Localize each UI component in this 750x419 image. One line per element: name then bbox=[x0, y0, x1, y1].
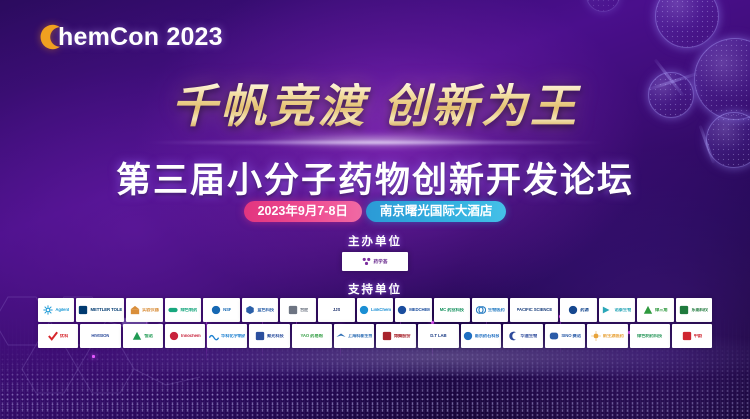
sponsor-logo-linkchem[interactable]: LinkChem bbox=[357, 298, 393, 322]
sponsor-logo-pacific-science[interactable]: PACIFIC SCIENCE bbox=[510, 298, 558, 322]
sponsor-logo-blue-hex[interactable]: 蓝色科技 bbox=[242, 298, 278, 322]
triangle-icon bbox=[132, 331, 142, 341]
sponsor-logo-label: Agilent bbox=[55, 308, 69, 313]
sponsor-logo-label: 蓝色科技 bbox=[257, 308, 274, 313]
molecule-icon bbox=[362, 257, 371, 266]
square-icon bbox=[382, 331, 392, 341]
circle-icon bbox=[463, 331, 473, 341]
sponsor-logo-grey-mark[interactable]: 合肥 bbox=[280, 298, 316, 322]
sponsor-logo-yaoyuan[interactable]: 药源 bbox=[560, 298, 596, 322]
sponsor-logo-label: 绿色制药科技 bbox=[637, 334, 662, 339]
hexagon-icon bbox=[245, 305, 255, 315]
wave-icon bbox=[209, 331, 219, 341]
sponsor-logo-label: D.T LAB bbox=[430, 334, 446, 339]
sponsor-logo-red-block[interactable]: 博腾股份 bbox=[376, 324, 416, 348]
bird-icon bbox=[336, 331, 346, 341]
rounded-square-icon bbox=[549, 331, 559, 341]
sponsor-logo-dt-lab[interactable]: D.T LAB bbox=[418, 324, 458, 348]
sponsor-logo-nsf[interactable]: NSF bbox=[203, 298, 239, 322]
slogan-right: 创新为王 bbox=[383, 79, 579, 133]
sponsor-logo-label: 南京药石科技 bbox=[475, 334, 499, 339]
sponsor-logo-lab-instrument[interactable]: 实验仪器 bbox=[126, 298, 162, 322]
sponsor-logo-blue-circle[interactable]: 南京药石科技 bbox=[461, 324, 501, 348]
sponsor-logo-jjs[interactable]: JJS bbox=[318, 298, 354, 322]
event-date-badge: 2023年9月7-8日 bbox=[244, 201, 362, 222]
sponsor-logo-mettler-toledo[interactable]: METTLER TOLEDO bbox=[76, 298, 124, 322]
sponsor-logo-label: METTLER TOLEDO bbox=[90, 308, 122, 313]
sponsor-logo-label: HIVISION bbox=[91, 334, 109, 339]
circle-icon bbox=[169, 331, 179, 341]
event-venue-badge: 南京曙光国际大酒店 bbox=[366, 201, 507, 222]
sponsor-logo-label: 中韵 bbox=[694, 334, 702, 339]
molecule-node bbox=[655, 0, 719, 48]
support-section-title: 支持单位 bbox=[0, 281, 750, 297]
sponsor-logo-sino-blue[interactable]: SINO 赛诺 bbox=[545, 324, 585, 348]
sponsor-logo-label: LinkChem bbox=[371, 308, 391, 313]
sponsor-logo-label: 恒诺 bbox=[144, 334, 152, 339]
sponsor-logo-label: 华道生物 bbox=[520, 334, 537, 339]
sponsor-logo-red-check[interactable]: 优科 bbox=[38, 324, 78, 348]
sponsor-logo-label: 华科化学制药 bbox=[221, 334, 245, 339]
sponsor-logo-grid: AgilentMETTLER TOLEDO实验仪器绿色制药NSF蓝色科技合肥JJ… bbox=[38, 298, 712, 350]
sponsor-logo-label: 新生源医药 bbox=[603, 334, 624, 339]
square-icon bbox=[679, 305, 689, 315]
brand-name: hemCon 2023 bbox=[58, 23, 223, 52]
arrow-icon bbox=[602, 305, 612, 315]
sponsor-logo-label: 上海科新生物技术 bbox=[348, 334, 372, 339]
brand-logo: hemCon 2023 bbox=[36, 22, 223, 52]
host-logo-card: 药学荟 bbox=[342, 252, 408, 271]
circle-icon bbox=[211, 305, 221, 315]
sponsor-logo-label: 博腾股份 bbox=[394, 334, 411, 339]
sponsor-logo-dongnan-keyi[interactable]: 东南科仪 bbox=[676, 298, 712, 322]
capsule-icon bbox=[168, 305, 178, 315]
crescent-c-icon bbox=[36, 22, 66, 52]
sponsor-logo-wc-bio[interactable]: 生物医药 bbox=[472, 298, 508, 322]
host-logo-label: 药学荟 bbox=[373, 259, 387, 265]
sponsor-logo-label: YAO 药易购 bbox=[300, 334, 322, 339]
host-section-title: 主办单位 bbox=[0, 233, 750, 249]
sponsor-logo-yao-green[interactable]: YAO 药易购 bbox=[292, 324, 332, 348]
hero-slogan: 千帆竞渡创新为王 bbox=[0, 83, 750, 129]
molecule-node bbox=[586, 0, 620, 12]
page-title: 第三届小分子药物创新开发论坛 bbox=[0, 152, 750, 203]
check-icon bbox=[48, 331, 58, 341]
sponsor-logo-mc-pharma[interactable]: MC 药业科技 bbox=[434, 298, 470, 322]
starburst-icon bbox=[43, 305, 53, 315]
conference-banner: hemCon 2023 千帆竞渡创新为王 第三届小分子药物创新开发论坛 2023… bbox=[0, 0, 750, 419]
sponsor-row: AgilentMETTLER TOLEDO实验仪器绿色制药NSF蓝色科技合肥JJ… bbox=[38, 298, 712, 322]
sponsor-logo-label: 东南科仪 bbox=[691, 308, 708, 313]
circle-icon bbox=[359, 305, 369, 315]
sponsor-logo-bird-mark[interactable]: 上海科新生物技术 bbox=[334, 324, 374, 348]
sponsor-logo-label: 诺泰生物 bbox=[614, 308, 631, 313]
sponsor-logo-innochem[interactable]: Innochem bbox=[165, 324, 205, 348]
circle-icon bbox=[568, 305, 578, 315]
sponsor-logo-label: PACIFIC SCIENCE bbox=[517, 308, 553, 313]
square-icon bbox=[255, 331, 265, 341]
sponsor-logo-label: NSF bbox=[223, 308, 231, 313]
sponsor-logo-green-capsule[interactable]: 绿色制药 bbox=[165, 298, 201, 322]
circle-icon bbox=[397, 305, 407, 315]
sponsor-logo-label: 优科 bbox=[60, 334, 68, 339]
sponsor-logo-label: Innochem bbox=[181, 334, 201, 339]
sponsor-logo-green-lab[interactable]: 绿色制药科技 bbox=[630, 324, 670, 348]
sponsor-logo-c-mark[interactable]: 华道生物 bbox=[503, 324, 543, 348]
sponsor-logo-label: JJS bbox=[333, 308, 340, 313]
building-icon bbox=[130, 305, 140, 315]
sponsor-logo-label: 绿三角 bbox=[655, 308, 668, 313]
sponsor-logo-cn-red[interactable]: 中韵 bbox=[672, 324, 712, 348]
slogan-shine bbox=[145, 140, 605, 145]
sun-icon bbox=[591, 331, 601, 341]
square-icon bbox=[288, 305, 298, 315]
sponsor-logo-triangle-mark[interactable]: 绿三角 bbox=[637, 298, 673, 322]
sponsor-logo-agilent[interactable]: Agilent bbox=[38, 298, 74, 322]
sponsor-logo-label: 药源 bbox=[580, 308, 588, 313]
sponsor-logo-label: SINO 赛诺 bbox=[561, 334, 581, 339]
sponsor-logo-orange-sun[interactable]: 新生源医药 bbox=[587, 324, 627, 348]
square-icon bbox=[78, 305, 88, 315]
sponsor-logo-label: 绿色制药 bbox=[180, 308, 197, 313]
sponsor-logo-label: MC 药业科技 bbox=[440, 308, 464, 313]
crescent-icon bbox=[508, 331, 518, 341]
sponsor-logo-label: MEDCHEM bbox=[409, 308, 429, 313]
sponsor-logo-label: 生物医药 bbox=[488, 308, 505, 313]
sponsor-logo-medchem[interactable]: MEDCHEM bbox=[395, 298, 431, 322]
slogan-left: 千帆竞渡 bbox=[171, 79, 367, 133]
sponsor-logo-label: 实验仪器 bbox=[142, 308, 159, 313]
sponsor-logo-label: 合肥 bbox=[300, 308, 308, 313]
sponsor-row: 优科HIVISION恒诺Innochem华科化学制药聚光科技YAO 药易购上海科… bbox=[38, 324, 712, 348]
double-circle-icon bbox=[476, 305, 486, 315]
sponsor-logo-sanjiao[interactable]: 恒诺 bbox=[123, 324, 163, 348]
event-meta: 2023年9月7-8日 南京曙光国际大酒店 bbox=[0, 201, 750, 222]
sponsor-logo-huaxue[interactable]: 华科化学制药 bbox=[207, 324, 247, 348]
sponsor-logo-teal-mark[interactable]: 诺泰生物 bbox=[599, 298, 635, 322]
particle-dot bbox=[92, 355, 95, 358]
triangle-icon bbox=[643, 305, 653, 315]
sponsor-logo-label: 聚光科技 bbox=[267, 334, 284, 339]
host-logo-list: 药学荟 bbox=[0, 252, 750, 271]
sponsor-logo-hivision[interactable]: HIVISION bbox=[80, 324, 120, 348]
sponsor-logo-cube-mark[interactable]: 聚光科技 bbox=[249, 324, 289, 348]
square-icon bbox=[682, 331, 692, 341]
